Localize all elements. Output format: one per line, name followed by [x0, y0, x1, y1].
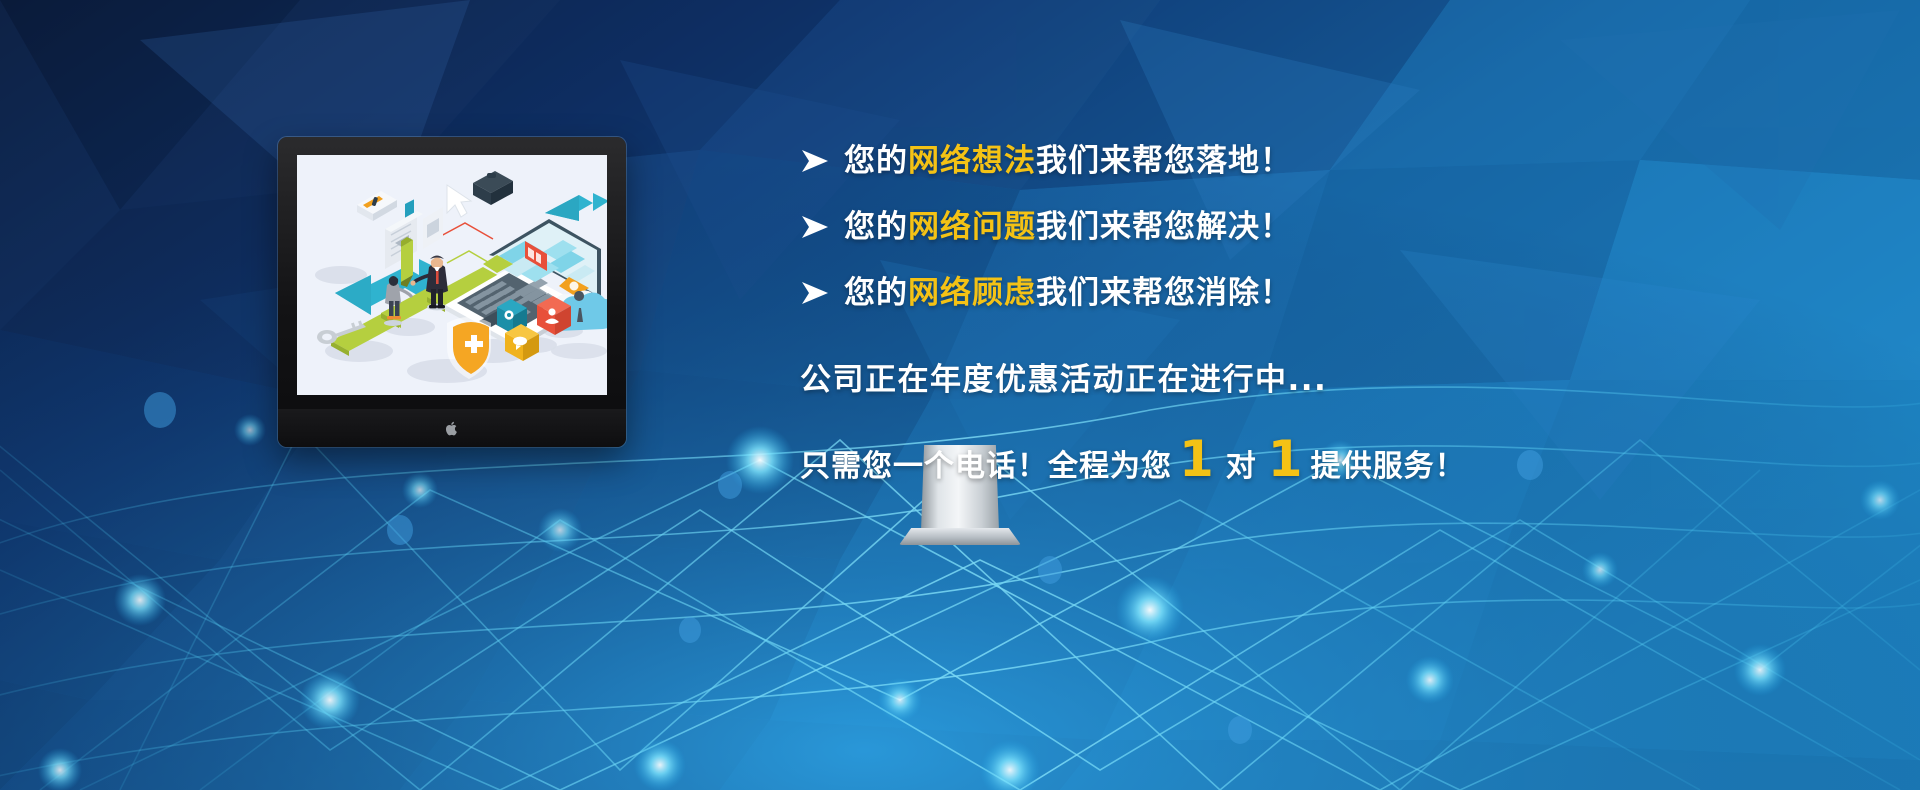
promo-banner: 您的网络想法我们来帮您落地！ 您的网络问题我们来帮您解决！ 您的网络顾虑我们来帮…: [0, 0, 1920, 790]
bullet-suffix: 我们来帮您解决！: [1036, 209, 1292, 245]
bullet-row: 您的网络顾虑我们来帮您消除！: [800, 262, 1800, 324]
bullet-highlight: 网络问题: [908, 209, 1036, 245]
bullet-text: 您的网络问题我们来帮您解决！: [844, 212, 1292, 243]
bullet-text: 您的网络顾虑我们来帮您消除！: [844, 278, 1292, 309]
bullet-text: 您的网络想法我们来帮您落地！: [844, 146, 1292, 177]
monitor-foot: [899, 528, 1021, 545]
desktop-monitor: [278, 137, 626, 447]
callout-line: 只需您一个电话！全程为您 1 对 1 提供服务！: [800, 437, 1800, 485]
monitor-screen: [297, 155, 607, 395]
callout-number-second: 1: [1261, 437, 1311, 482]
arrow-right-icon: [800, 148, 844, 174]
isometric-scene: [297, 155, 607, 395]
promo-line: 公司正在年度优惠活动正在进行中...: [800, 354, 1800, 399]
bullet-prefix: 您的: [844, 275, 908, 311]
arrow-right-icon: [800, 214, 844, 240]
bullet-row: 您的网络想法我们来帮您落地！: [800, 130, 1800, 192]
bullet-prefix: 您的: [844, 143, 908, 179]
bullet-suffix: 我们来帮您落地！: [1036, 143, 1292, 179]
copy-block: 您的网络想法我们来帮您落地！ 您的网络问题我们来帮您解决！ 您的网络顾虑我们来帮…: [800, 130, 1800, 485]
callout-number-first: 1: [1172, 437, 1222, 482]
bullet-prefix: 您的: [844, 209, 908, 245]
bullet-row: 您的网络问题我们来帮您解决！: [800, 196, 1800, 258]
bullet-suffix: 我们来帮您消除！: [1036, 275, 1292, 311]
bullet-highlight: 网络顾虑: [908, 275, 1036, 311]
bullet-highlight: 网络想法: [908, 143, 1036, 179]
arrow-right-icon: [800, 280, 844, 306]
monitor-chin: [278, 409, 626, 447]
callout-between: 对: [1222, 441, 1261, 485]
apple-logo-icon: [446, 421, 459, 436]
callout-lead: 只需您一个电话！全程为您: [800, 441, 1172, 485]
callout-tail: 提供服务！: [1311, 441, 1466, 485]
